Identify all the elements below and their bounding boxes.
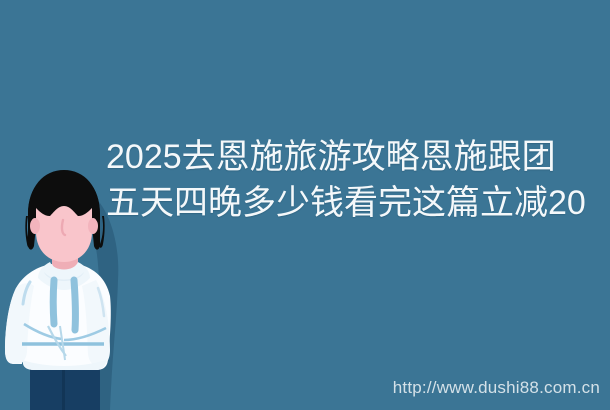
watermark-url: http://www.dushi88.com.cn — [393, 378, 600, 398]
poster-canvas: 2025去恩施旅游攻略恩施跟团 五天四晚多少钱看完这篇立减20 http://w… — [0, 0, 610, 410]
headline-line-2: 五天四晚多少钱看完这篇立减20 — [106, 180, 606, 226]
headline-block: 2025去恩施旅游攻略恩施跟团 五天四晚多少钱看完这篇立减20 — [106, 134, 606, 226]
headline-line-1: 2025去恩施旅游攻略恩施跟团 — [106, 134, 606, 180]
hoodie — [5, 262, 111, 370]
